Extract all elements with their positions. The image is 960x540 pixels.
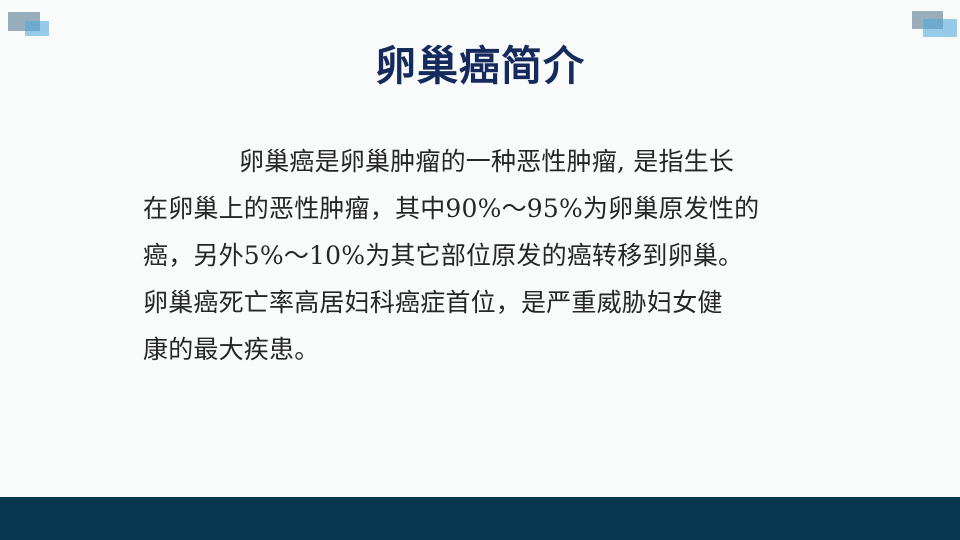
decor-rectangle-top-right-blue: [923, 19, 957, 37]
body-line: 康的最大疾患。: [143, 326, 811, 373]
presentation-slide: 卵巢癌简介 卵巢癌是卵巢肿瘤的一种恶性肿瘤, 是指生长 在卵巢上的恶性肿瘤，其中…: [0, 0, 960, 540]
decor-rectangle-top-left-blue: [25, 21, 49, 36]
body-line: 卵巢癌是卵巢肿瘤的一种恶性肿瘤, 是指生长: [143, 138, 811, 185]
footer-accent-band: [0, 497, 960, 540]
body-line: 癌，另外5%～10%为其它部位原发的癌转移到卵巢。: [143, 232, 811, 279]
decor-rectangle-top-right-gray: [912, 11, 943, 29]
slide-title: 卵巢癌简介: [0, 41, 960, 91]
slide-body-text: 卵巢癌是卵巢肿瘤的一种恶性肿瘤, 是指生长 在卵巢上的恶性肿瘤，其中90%～95…: [143, 138, 811, 373]
body-line: 卵巢癌死亡率高居妇科癌症首位，是严重威胁妇女健: [143, 279, 811, 326]
decor-rectangle-top-left-gray: [8, 12, 40, 31]
body-line: 在卵巢上的恶性肿瘤，其中90%～95%为卵巢原发性的: [143, 185, 811, 232]
